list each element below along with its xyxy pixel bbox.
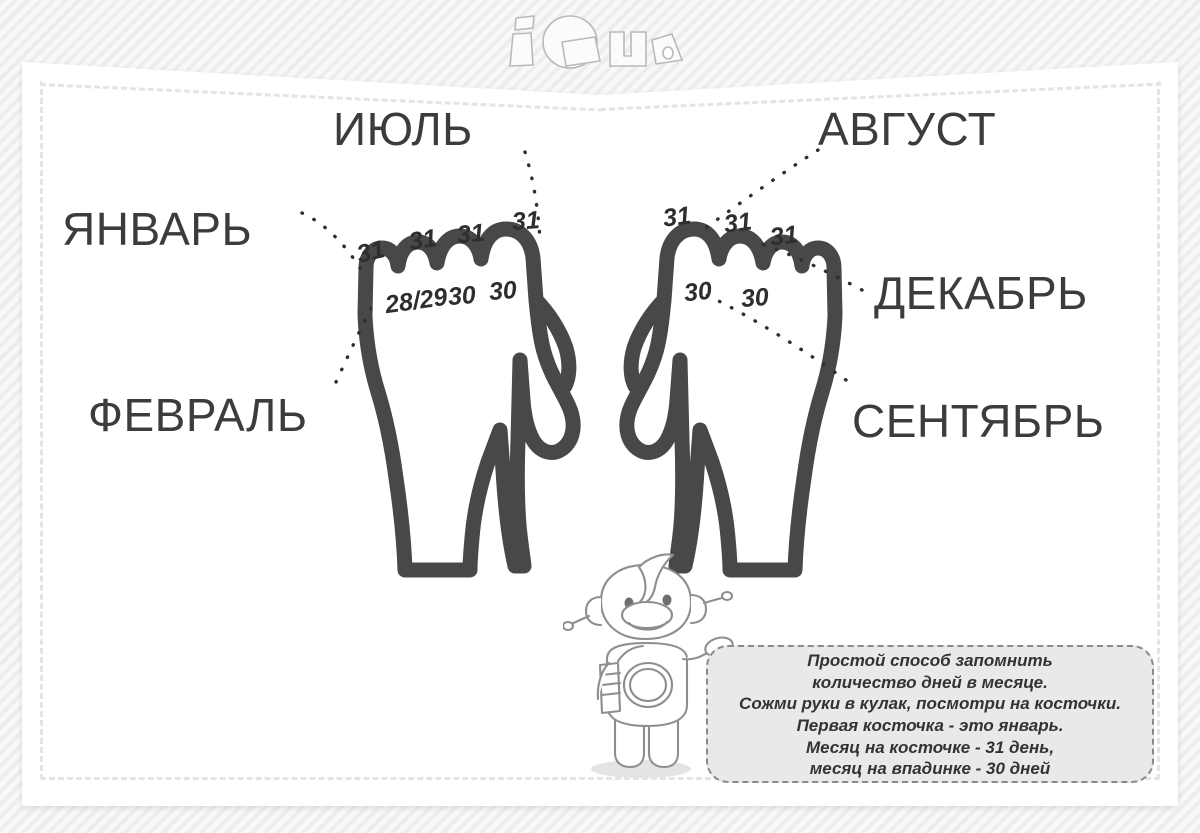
leader-august: [700, 150, 818, 232]
iqua-logo: [500, 12, 690, 70]
left-knuckle-days-1: 31: [355, 237, 388, 268]
right-fist-thumb: [631, 300, 664, 386]
leader-february: [336, 306, 372, 382]
right-knuckle-days-2: 31: [723, 209, 754, 237]
tip-line-1: Простой способ запомнить: [807, 650, 1052, 672]
card-dashed-border-top-left: [40, 83, 604, 112]
right-fist-outline: [627, 229, 835, 570]
leader-september: [700, 292, 846, 380]
tip-speech-bubble: Простой способ запомнить количество дней…: [706, 645, 1154, 783]
left-fist-outline: [365, 229, 573, 570]
tip-line-5: Месяц на косточке - 31 день,: [806, 737, 1054, 759]
right-knuckle-days-3: 31: [769, 222, 800, 250]
robot-ear-left: [586, 597, 601, 625]
left-fist-thumb: [536, 300, 569, 386]
tip-line-4: Первая косточка - это январь.: [797, 715, 1064, 737]
left-knuckle-days-2: 31: [407, 226, 438, 255]
left-knuckle-days-4: 31: [511, 208, 540, 235]
robot-ear-right: [691, 595, 706, 623]
month-label-july: ИЮЛЬ: [333, 106, 473, 152]
infographic-page: ЯНВАРЬ ИЮЛЬ АВГУСТ ДЕКАБРЬ ФЕВРАЛЬ СЕНТЯ…: [0, 0, 1200, 833]
month-label-september: СЕНТЯБРЬ: [852, 398, 1105, 444]
left-valley-days-1: 28/29: [384, 285, 449, 318]
left-valley-days-2: 30: [447, 283, 477, 310]
right-valley-days-1: 30: [683, 279, 713, 307]
tip-line-2: количество дней в месяце.: [812, 672, 1048, 694]
left-knuckle-days-3: 31: [456, 221, 486, 249]
right-valley-days-2: 30: [740, 285, 770, 312]
right-knuckle-days-1: 31: [662, 203, 693, 231]
left-valley-days-3: 30: [488, 278, 518, 305]
month-label-january: ЯНВАРЬ: [62, 206, 252, 252]
robot-eye-right: [663, 595, 672, 606]
leader-january: [302, 213, 360, 268]
tip-line-6: месяц на впадинке - 30 дней: [810, 758, 1051, 780]
month-label-february: ФЕВРАЛЬ: [88, 392, 308, 438]
month-label-december: ДЕКАБРЬ: [874, 270, 1088, 316]
tip-line-3: Сожми руки в кулак, посмотри на косточки…: [739, 693, 1121, 715]
month-label-august: АВГУСТ: [818, 106, 996, 152]
